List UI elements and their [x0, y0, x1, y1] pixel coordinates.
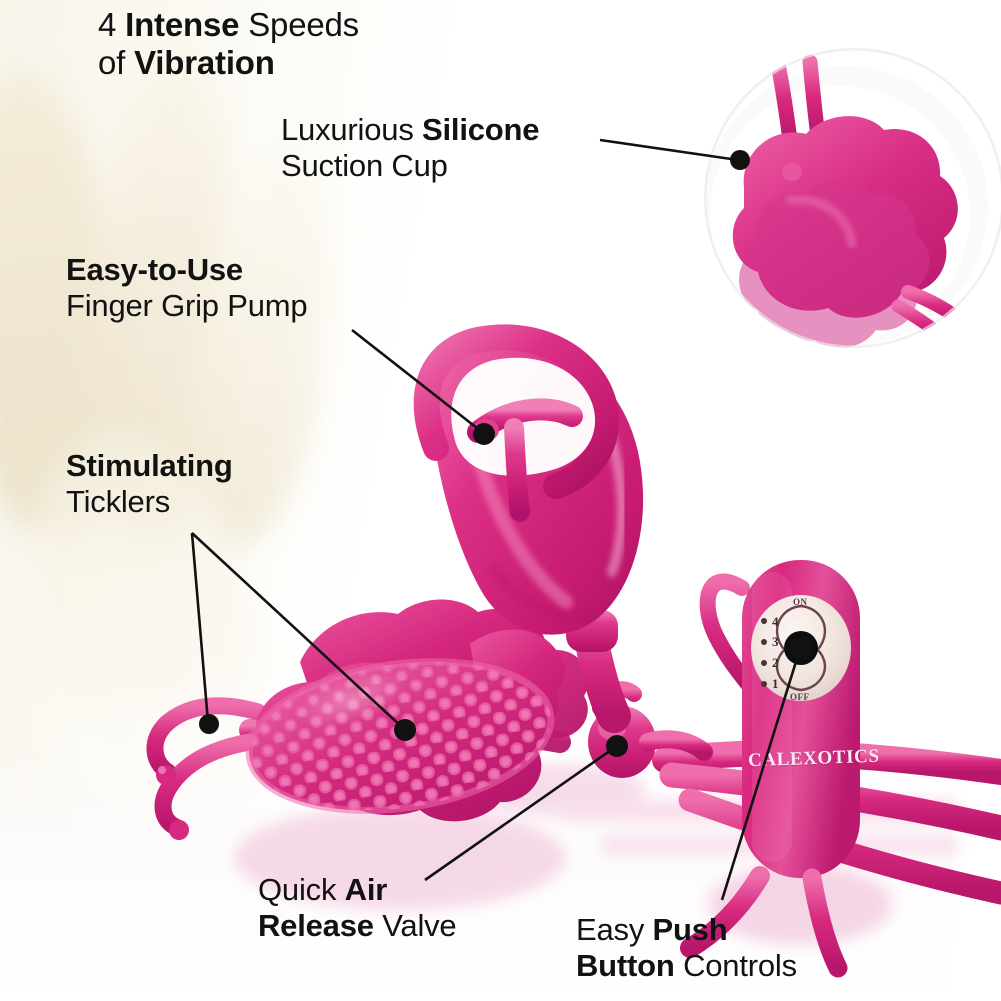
- callout-silicone-suction-cup: Luxurious Silicone Suction Cup: [281, 112, 539, 184]
- callout-speeds: 4 Intense Speeds of Vibration: [98, 6, 359, 83]
- remote-speed-3: 3: [772, 634, 779, 650]
- callout-pump-line-2: Finger Grip Pump: [66, 288, 307, 324]
- remote-on-label: ON: [793, 597, 808, 607]
- callout-silicone-line-1: Luxurious Silicone: [281, 112, 539, 148]
- product-packaging-image: 4 3 2 1 ON OFF CALEXOTICS 4 Intense Spee…: [0, 0, 1001, 1001]
- callout-pump-line-1: Easy-to-Use: [66, 252, 307, 288]
- callout-controls-line-1: Easy Push: [576, 912, 797, 948]
- remote-indicator-dot: [761, 660, 767, 666]
- remote-indicator-dot: [761, 618, 767, 624]
- callout-valve-line-1: Quick Air: [258, 872, 456, 908]
- callout-ticklers-line-2: Ticklers: [66, 484, 233, 520]
- brand-logo: CALEXOTICS: [748, 746, 880, 773]
- remote-speed-4: 4: [772, 614, 779, 630]
- callout-speeds-line-1: 4 Intense Speeds: [98, 6, 359, 44]
- callout-finger-grip-pump: Easy-to-Use Finger Grip Pump: [66, 252, 307, 324]
- remote-indicator-dot: [761, 681, 767, 687]
- callout-stimulating-ticklers: Stimulating Ticklers: [66, 448, 233, 520]
- callout-speeds-line-2: of Vibration: [98, 44, 359, 82]
- callout-silicone-line-2: Suction Cup: [281, 148, 539, 184]
- remote-speed-2: 2: [772, 655, 779, 671]
- remote-speed-1: 1: [772, 676, 779, 692]
- inset-suction-cup-detail: [704, 48, 1001, 348]
- callout-quick-air-release-valve: Quick Air Release Valve: [258, 872, 456, 944]
- callout-easy-push-button-controls: Easy Push Button Controls: [576, 912, 797, 984]
- callout-ticklers-line-1: Stimulating: [66, 448, 233, 484]
- callout-controls-line-2: Button Controls: [576, 948, 797, 984]
- callout-valve-line-2: Release Valve: [258, 908, 456, 944]
- remote-indicator-dot: [761, 639, 767, 645]
- remote-off-label: OFF: [790, 692, 810, 702]
